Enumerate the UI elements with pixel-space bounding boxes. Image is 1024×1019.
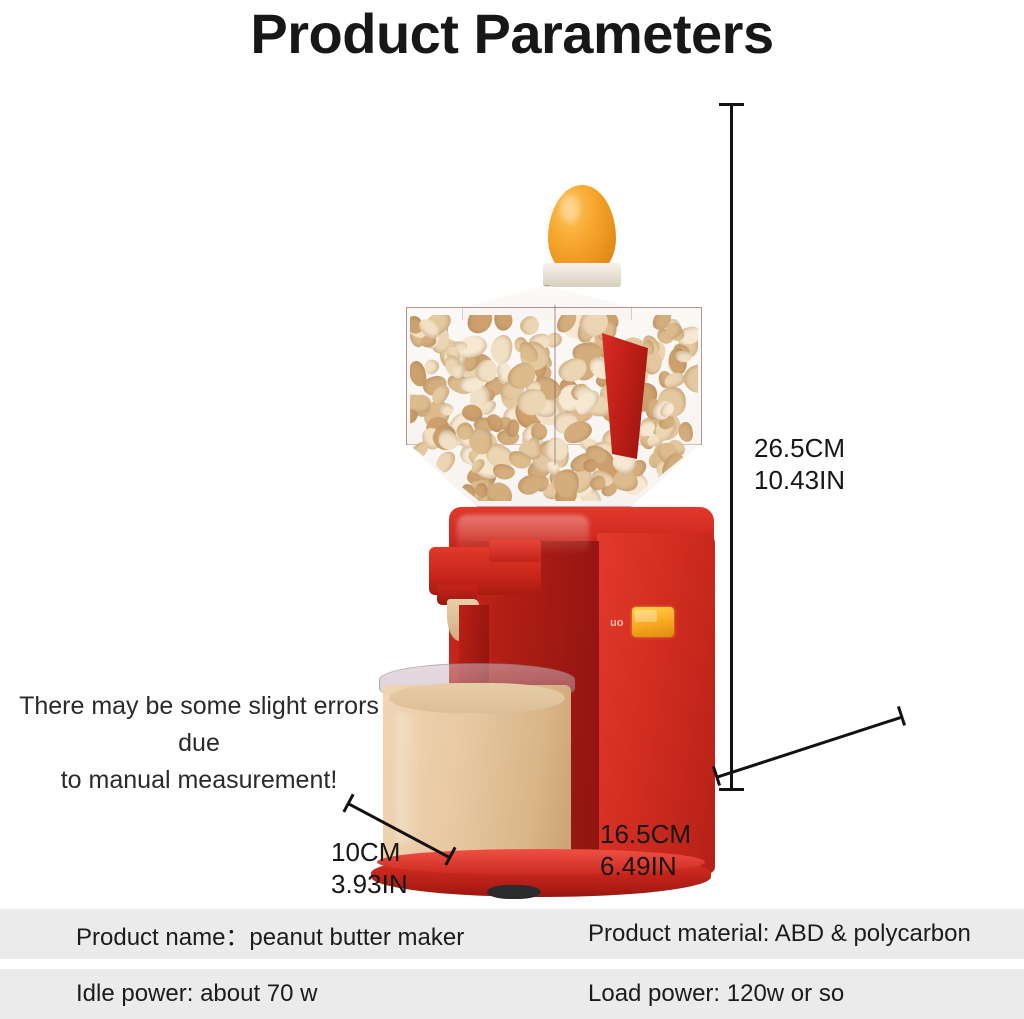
peanut bbox=[475, 482, 487, 497]
switch-label: on bbox=[610, 617, 623, 629]
knob-collar bbox=[543, 263, 621, 287]
height-dimension-label: 26.5CM 10.43IN bbox=[754, 432, 845, 496]
peanut bbox=[680, 482, 698, 501]
peanut bbox=[493, 315, 515, 332]
peanut bbox=[410, 458, 429, 484]
peanut bbox=[684, 459, 698, 482]
table-row: Product name：peanut butter maker Product… bbox=[0, 909, 1024, 959]
peanut-hopper bbox=[406, 285, 702, 507]
peanut bbox=[464, 315, 498, 339]
spec-idle-power: Idle power: about 70 w bbox=[76, 980, 318, 1008]
machine-foot bbox=[487, 885, 541, 899]
spec-table: Product name：peanut butter maker Product… bbox=[0, 909, 1024, 1019]
peanut bbox=[682, 484, 698, 501]
measurement-disclaimer: There may be some slight errors due to m… bbox=[4, 688, 394, 799]
table-row: Idle power: about 70 w Load power: 120w … bbox=[0, 969, 1024, 1019]
peanut bbox=[432, 448, 458, 476]
width-dimension-label: 10CM 3.93IN bbox=[331, 836, 408, 900]
depth-cm: 16.5CM bbox=[600, 818, 691, 850]
depth-in: 6.49IN bbox=[600, 850, 691, 882]
depth-dimension-label: 16.5CM 6.49IN bbox=[600, 818, 691, 882]
spout-lever bbox=[489, 540, 541, 562]
height-dimension-line bbox=[730, 105, 733, 790]
spec-product-name: Product name：peanut butter maker bbox=[76, 917, 464, 952]
spec-product-material: Product material: ABD & polycarbon bbox=[588, 920, 971, 948]
peanut-butter-surface bbox=[389, 683, 565, 713]
width-in: 3.93IN bbox=[331, 868, 408, 900]
peanut bbox=[677, 421, 694, 443]
height-cm: 26.5CM bbox=[754, 432, 845, 464]
height-in: 10.43IN bbox=[754, 464, 845, 496]
page-title: Product Parameters bbox=[0, 2, 1024, 66]
width-cm: 10CM bbox=[331, 836, 408, 868]
hopper-divider bbox=[554, 305, 556, 465]
switch-rocker-icon bbox=[632, 607, 674, 637]
cup-highlight bbox=[396, 713, 422, 843]
height-dimension-cap-bottom bbox=[719, 788, 744, 791]
spec-load-power: Load power: 120w or so bbox=[588, 980, 844, 1008]
disclaimer-line-1: There may be some slight errors due bbox=[4, 688, 394, 762]
disclaimer-line-2: to manual measurement! bbox=[4, 762, 394, 799]
power-switch: on bbox=[610, 607, 676, 641]
